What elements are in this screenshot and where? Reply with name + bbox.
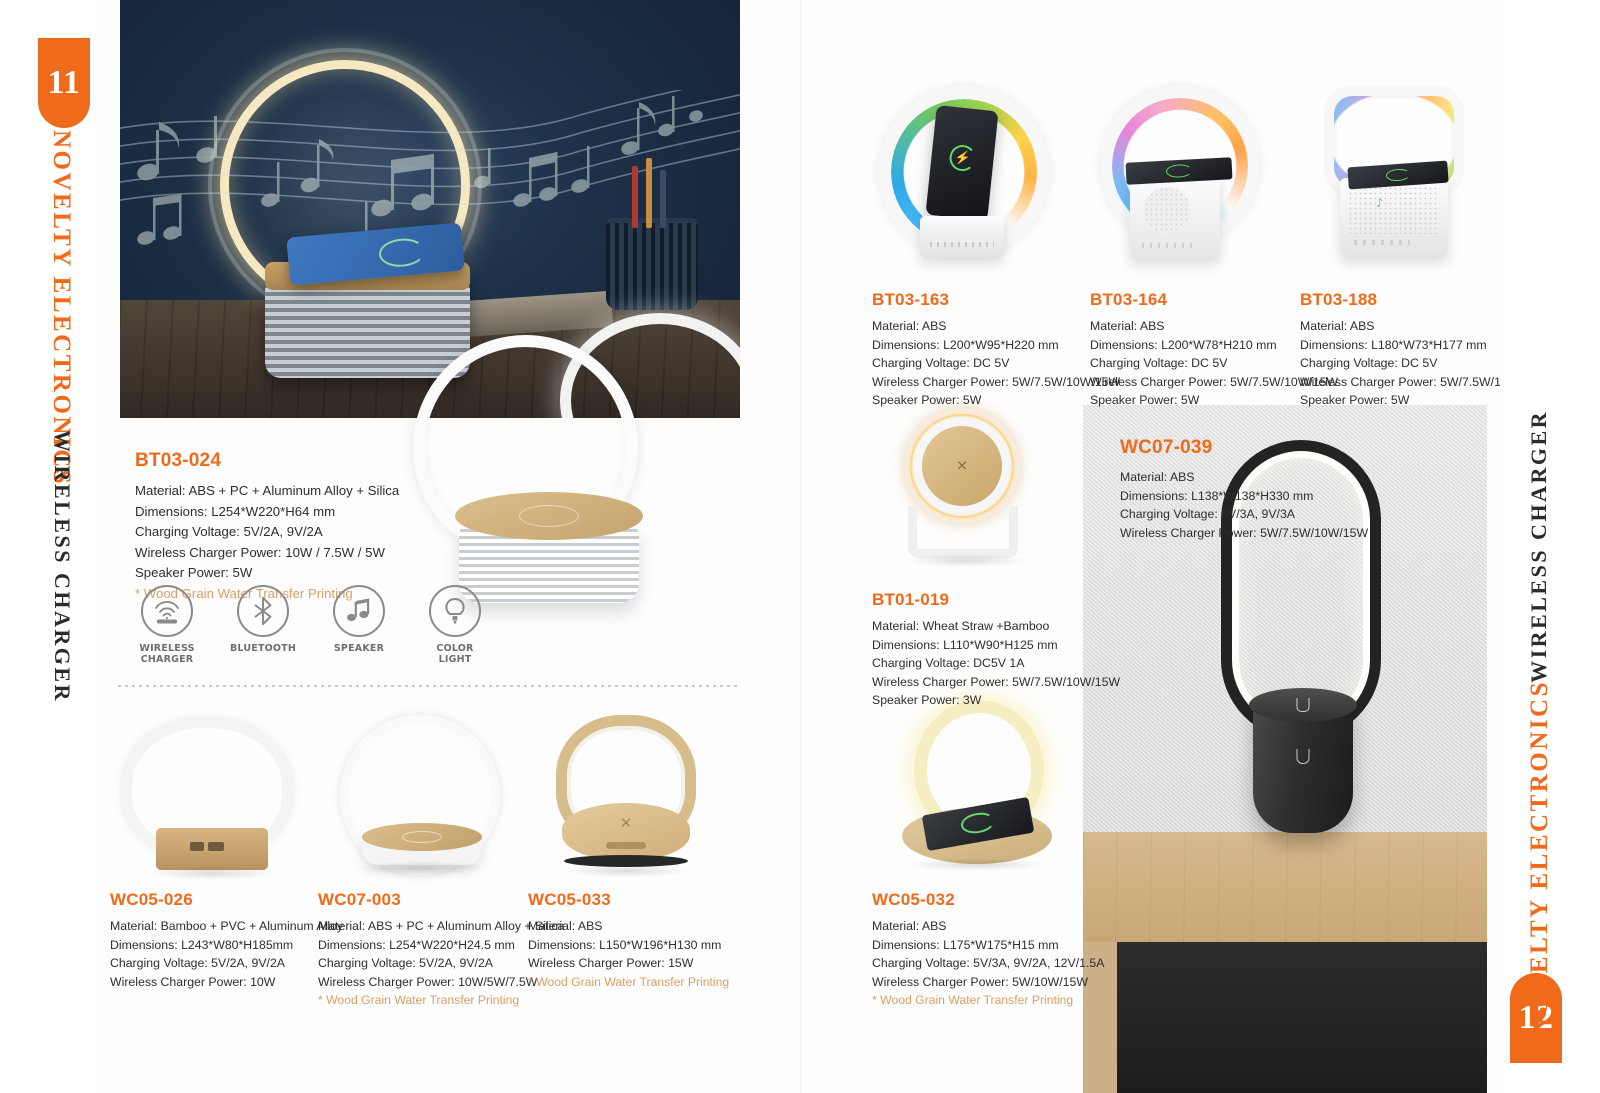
product-wireless-power: Wireless Charger Power: 5W/7.5W/10W/15W: [872, 673, 1120, 692]
charging-phone: ⚡: [925, 105, 998, 221]
product-note: * Wood Grain Water Transfer Printing: [318, 991, 564, 1010]
product-code: BT03-163: [872, 290, 1120, 310]
product-info-bt03-024: BT03-024 Material: ABS + PC + Aluminum A…: [135, 450, 399, 604]
product-info-bt03-163: BT03-163 Material: ABS Dimensions: L200*…: [872, 290, 1120, 410]
product-wireless-power: Wireless Charger Power: 5W/7.5W/10W/15W: [1120, 524, 1368, 543]
color-light-icon: [429, 585, 481, 637]
bamboo-charging-pad: ✕: [922, 426, 1002, 506]
product-material: Material: ABS: [872, 317, 1120, 336]
product-photo-wc07-003: [318, 715, 528, 885]
usb-port-a: [190, 842, 204, 851]
product-material: Material: ABS + PC + Aluminum Alloy + Si…: [135, 481, 399, 502]
product-info-wc05-033: WC05-033 Material: ABS Dimensions: L150*…: [528, 890, 729, 991]
bulb-icon: [1297, 749, 1310, 764]
stand-base: [920, 216, 1004, 258]
product-wireless-power: Wireless Charger Power: 10W / 7.5W / 5W: [135, 543, 399, 564]
product-shadow: [150, 866, 276, 880]
product-dimensions: Dimensions: L243*W80*H185mm: [110, 936, 343, 955]
pencil-red: [632, 166, 638, 228]
product-code: WC05-026: [110, 890, 343, 910]
speaker-box: ♪: [1340, 178, 1448, 256]
product-speaker-power: Speaker Power: 3W: [872, 691, 1120, 710]
product-dimensions: Dimensions: L200*W95*H220 mm: [872, 336, 1120, 355]
product-speaker-power: Speaker Power: 5W: [872, 391, 1120, 410]
product-shadow: [566, 865, 688, 877]
pencil-orange: [646, 158, 652, 228]
product-dimensions: Dimensions: L110*W90*H125 mm: [872, 636, 1120, 655]
lamp-stand: [908, 506, 1018, 558]
control-buttons: [1354, 240, 1410, 245]
charging-indicator: [959, 810, 996, 836]
speaker-grille: [1144, 187, 1190, 233]
feature-color-light: COLOR LIGHT: [421, 585, 489, 665]
product-shadow: [906, 554, 1026, 567]
product-dimensions: Dimensions: L175*W175*H15 mm: [872, 936, 1104, 955]
product-voltage: Charging Voltage: 5V/2A, 9V/2A: [135, 522, 399, 543]
control-buttons: [1142, 243, 1198, 248]
bluetooth-icon: [237, 585, 289, 637]
product-wireless-power: Wireless Charger Power: 5W/10W/15W: [872, 973, 1104, 992]
section-divider: [118, 685, 740, 687]
product-voltage: Charging Voltage: 5V/2A, 9V/2A: [110, 954, 343, 973]
product-shadow: [358, 861, 486, 875]
product-photo-bt03-163: ⚡: [868, 78, 1058, 278]
pencil-cup-prop: [606, 218, 698, 310]
sidebar-category-right: WIRELESS CHARGER: [1526, 410, 1552, 683]
feature-label-line2: CHARGER: [133, 654, 201, 665]
product-material: Material: Bamboo + PVC + Aluminum Alloy: [110, 917, 343, 936]
product-info-wc05-026: WC05-026 Material: Bamboo + PVC + Alumin…: [110, 890, 343, 991]
product-dimensions: Dimensions: L150*W196*H130 mm: [528, 936, 729, 955]
product-code: WC07-039: [1120, 437, 1368, 459]
wireless-charger-icon: [141, 585, 193, 637]
product-dimensions: Dimensions: L254*W220*H64 mm: [135, 502, 399, 523]
product-voltage: Charging Voltage: 5V/3A, 9V/3A: [1120, 505, 1368, 524]
sidebar-left: 11 NOVELTY ELECTRONICS WIRELESS CHARGER: [0, 0, 100, 1093]
product-wireless-power: Wireless Charger Power: 15W: [528, 954, 729, 973]
product-code: WC05-032: [872, 890, 1104, 910]
product-material: Material: Wheat Straw +Bamboo: [872, 617, 1120, 636]
product-code: WC05-033: [528, 890, 729, 910]
product-wireless-power: Wireless Charger Power: 10W: [110, 973, 343, 992]
clock-display: ♪: [1376, 196, 1383, 210]
charging-indicator: [1386, 168, 1411, 182]
feature-label: WIRELESS CHARGER: [133, 643, 201, 665]
product-voltage: Charging Voltage: DC5V 1A: [872, 654, 1120, 673]
product-photo-bt01-019: ✕: [880, 402, 1060, 582]
product-material: Material: ABS: [1120, 468, 1368, 487]
wood-charging-pad: [455, 492, 643, 540]
feature-wireless-charger: WIRELESS CHARGER: [133, 585, 201, 665]
feature-label: COLOR LIGHT: [421, 643, 489, 665]
product-code: BT03-024: [135, 450, 399, 472]
feature-label-line1: WIRELESS: [133, 643, 201, 654]
product-photo-bt03-188: ♪: [1300, 80, 1490, 275]
pencil-blue: [660, 170, 666, 228]
sidebar-category-left: WIRELESS CHARGER: [49, 430, 75, 703]
wood-pad: [362, 823, 482, 851]
sidebar-brand-right: NOVELTY ELECTRONICS: [1526, 680, 1554, 1036]
product-code: BT01-019: [872, 590, 1120, 610]
spread-gutter: [800, 0, 802, 1093]
catalog-spread: BT03-024 Material: ABS + PC + Aluminum A…: [0, 0, 1600, 1093]
wood-charging-pad: ✕: [562, 803, 690, 861]
product-wireless-power: Wireless Charger Power: 5W/7.5W/10W/15W: [872, 373, 1120, 392]
product-voltage: Charging Voltage: DC 5V: [872, 354, 1120, 373]
charging-bolt-icon: ⚡: [954, 149, 972, 167]
product-photo-bt03-164: [1080, 78, 1270, 278]
product-note: * Wood Grain Water Transfer Printing: [872, 991, 1104, 1010]
product-info-wc07-039: WC07-039 Material: ABS Dimensions: L138*…: [1120, 437, 1368, 542]
page-number-tab-left: 11: [38, 38, 90, 128]
slot-detail: [606, 842, 646, 849]
speaker-grille: [1348, 186, 1440, 234]
feature-label: BLUETOOTH: [229, 643, 297, 654]
speaker-icon: [333, 585, 385, 637]
product-photo-wc05-033: ✕: [528, 715, 728, 885]
product-photo-wc05-032: [880, 700, 1080, 880]
feature-speaker: SPEAKER: [325, 585, 393, 665]
feature-icon-row: WIRELESS CHARGER BLUETOOTH: [133, 585, 489, 665]
product-note: * Wood Grain Water Transfer Printing: [528, 973, 729, 992]
control-buttons: [930, 242, 994, 247]
product-dimensions: Dimensions: L138*W138*H330 mm: [1120, 487, 1368, 506]
product-voltage: Charging Voltage: 5V/3A, 9V/2A, 12V/1.5A: [872, 954, 1104, 973]
product-info-bt01-019: BT01-019 Material: Wheat Straw +Bamboo D…: [872, 590, 1120, 710]
product-photo-wc05-026: [110, 718, 310, 883]
under-shelf: [1083, 942, 1487, 1093]
wood-table: [1083, 832, 1487, 942]
coil-mark-icon: ✕: [620, 814, 633, 832]
product-material: Material: ABS: [528, 917, 729, 936]
coil-mark-icon: ✕: [956, 458, 968, 475]
product-material: Material: ABS: [872, 917, 1104, 936]
speaker-box: [1130, 173, 1220, 258]
feature-bluetooth: BLUETOOTH: [229, 585, 297, 665]
lamp-base-top: [1249, 688, 1357, 722]
charging-coil-mark: [402, 831, 442, 843]
product-info-wc05-032: WC05-032 Material: ABS Dimensions: L175*…: [872, 890, 1104, 1010]
page-number: 11: [47, 64, 80, 102]
product-shadow: [910, 858, 1044, 871]
bamboo-base: [156, 828, 268, 870]
usb-port-b: [208, 842, 224, 851]
product-speaker-power: Speaker Power: 5W: [135, 563, 399, 584]
sidebar-right: 12 WIRELESS CHARGER NOVELTY ELECTRONICS: [1500, 0, 1600, 1093]
feature-label: SPEAKER: [325, 643, 393, 654]
charging-indicator: [1166, 164, 1193, 178]
